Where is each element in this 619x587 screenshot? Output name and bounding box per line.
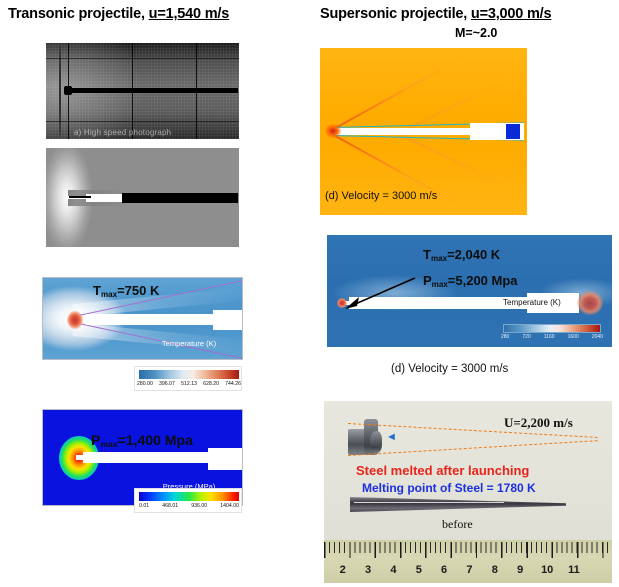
- temperature-colorbar-strip-right: [503, 324, 601, 333]
- temperature-colorbar-title-left: Temperature (K): [139, 339, 239, 348]
- right-title-prefix: Supersonic projectile,: [320, 6, 471, 22]
- projectile-tail-base: [506, 124, 520, 139]
- rod-specular-highlight: [354, 502, 504, 503]
- cbar-tick: 468.01: [162, 504, 178, 509]
- ruler-number: 9: [517, 564, 523, 576]
- tmax-annotation-right: Tmax=2,040 K: [423, 247, 500, 262]
- ruler-number: 11: [568, 564, 580, 576]
- right-temperature-panel: Tmax=2,040 K Pmax=5,200 Mpa Temperature …: [327, 235, 612, 347]
- cbar-tick: 396.07: [159, 382, 175, 387]
- tmax-pointer-arrow: [341, 275, 421, 311]
- cbar-tick: 1160: [544, 335, 555, 340]
- cbar-tick: 744.26: [225, 382, 241, 387]
- ruler-scale: 2 3 4 5 6 7 8 9 10 11: [324, 540, 612, 583]
- pmax-value: =1,400 Mpa: [118, 432, 193, 448]
- grid-line-horizontal: [46, 121, 239, 122]
- ruler-number: 2: [340, 564, 346, 576]
- ruler-major-ticks: [324, 542, 612, 558]
- ruler-number: 10: [541, 564, 553, 576]
- base-recirculation-hotspot: [577, 291, 603, 315]
- nose-stagnation-point: [325, 124, 341, 138]
- photograph-caption: a) High speed photograph: [74, 128, 171, 137]
- tmax-symbol: T: [423, 247, 431, 262]
- steel-melted-note: Steel melted after launching: [356, 463, 529, 478]
- velocity-field-panel: (d) Velocity = 3000 m/s: [320, 48, 527, 215]
- tmax-value: =2,040 K: [447, 247, 500, 262]
- right-temperature-caption: (d) Velocity = 3000 m/s: [391, 363, 508, 375]
- melting-point-note: Melting point of Steel = 1780 K: [362, 481, 536, 495]
- left-title-velocity: u=1,540 m/s: [149, 6, 229, 22]
- pressure-colorbar-strip: [139, 492, 239, 501]
- projectile-aft-body: [208, 448, 243, 470]
- cbar-tick: 2040: [592, 335, 603, 340]
- projectile-body-dark: [122, 193, 238, 203]
- cbar-tick: 0.01: [139, 504, 149, 509]
- pressure-colorbar: 0.01 468.01 936.00 1404.00: [134, 488, 242, 513]
- temperature-colorbar-left: 280.00 396.07 512.13 628.20 744.26: [134, 366, 242, 391]
- temperature-colorbar-ticks-right: 280 720 1160 1600 2040: [501, 335, 603, 340]
- left-column-title: Transonic projectile, u=1,540 m/s: [8, 6, 229, 22]
- cbar-tick: 1600: [568, 335, 579, 340]
- pmax-annotation-left: Pmax=1,400 Mpa: [91, 432, 193, 448]
- projectile-tip: [69, 196, 91, 198]
- cbar-tick: 1404.00: [220, 504, 239, 509]
- cbar-tick: 280: [501, 335, 509, 340]
- bow-shock-trace: [59, 45, 61, 137]
- temperature-colorbar-title-right: Temperature (K): [503, 298, 561, 307]
- pmax-symbol: P: [91, 432, 100, 448]
- cbar-tick: 936.00: [191, 504, 207, 509]
- pmax-value: =5,200 Mpa: [448, 273, 518, 288]
- tmax-subscript: max: [431, 254, 447, 263]
- grid-line-horizontal: [46, 58, 239, 59]
- temperature-colorbar-ticks-left: 280.00 396.07 512.13 628.20 744.26: [137, 382, 241, 387]
- velocity-panel-caption: (d) Velocity = 3000 m/s: [325, 190, 437, 202]
- high-speed-photograph-panel: a) High speed photograph: [46, 43, 239, 139]
- pmax-subscript: max: [100, 439, 117, 449]
- pmax-subscript: max: [432, 280, 448, 289]
- projectile-aft-body: [213, 310, 243, 330]
- projectile-nose-body: [76, 455, 92, 460]
- grayscale-density-panel: [46, 148, 239, 247]
- cbar-tick: 628.20: [203, 382, 219, 387]
- pmax-symbol: P: [423, 273, 432, 288]
- impact-velocity-label: U=2,200 m/s: [504, 415, 573, 431]
- melted-fragment-nub: [370, 431, 382, 453]
- before-label: before: [442, 517, 473, 532]
- tmax-subscript: max: [101, 290, 117, 299]
- temperature-colorbar-strip: [139, 370, 239, 379]
- right-title-velocity: u=3,000 m/s: [471, 6, 551, 22]
- steel-projectile-photo-panel: ◄ U=2,200 m/s Steel melted after launchi…: [324, 401, 612, 583]
- tmax-value: =750 K: [117, 283, 159, 298]
- cbar-tick: 720: [522, 335, 530, 340]
- pmax-annotation-right: Pmax=5,200 Mpa: [423, 273, 518, 288]
- stagnation-hotspot: [67, 311, 83, 329]
- ruler-number: 6: [441, 564, 447, 576]
- tmax-symbol: T: [93, 283, 101, 298]
- ruler-number: 8: [492, 564, 498, 576]
- right-column-title: Supersonic projectile, u=3,000 m/s: [320, 6, 551, 22]
- projectile-nose: [64, 86, 72, 95]
- ruler-number: 4: [390, 564, 396, 576]
- projectile-rod: [66, 88, 238, 93]
- ruler-numbers: 2 3 4 5 6 7 8 9 10 11: [324, 564, 612, 580]
- fragment-pointer-arrow: ◄: [386, 432, 397, 443]
- cbar-tick: 280.00: [137, 382, 153, 387]
- mach-number-label: M=~2.0: [455, 26, 497, 40]
- left-temperature-panel: Tmax=750 K Temperature (K): [42, 277, 243, 360]
- pressure-colorbar-ticks: 0.01 468.01 936.00 1404.00: [139, 504, 239, 509]
- ruler-number: 3: [365, 564, 371, 576]
- ruler-number: 7: [466, 564, 472, 576]
- left-title-prefix: Transonic projectile,: [8, 6, 149, 22]
- cbar-tick: 512.13: [181, 382, 197, 387]
- tmax-annotation-left: Tmax=750 K: [93, 283, 159, 298]
- ruler-number: 5: [416, 564, 422, 576]
